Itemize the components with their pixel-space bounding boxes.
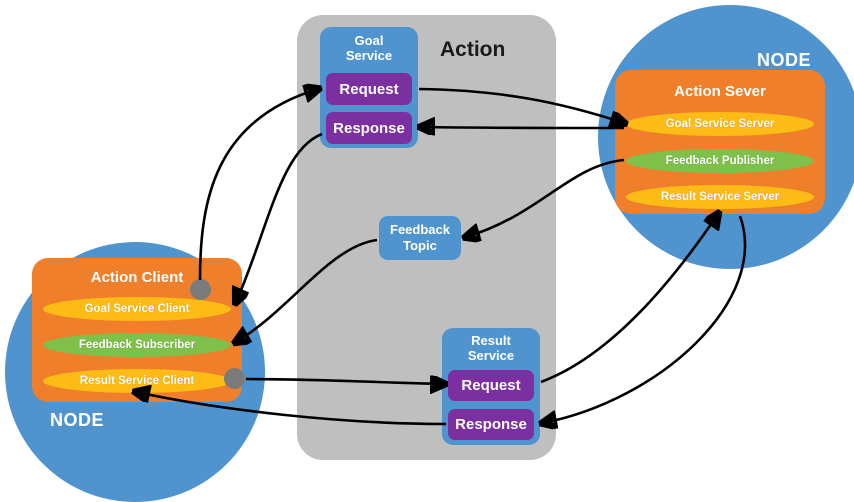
action-panel-title: Action [440, 38, 550, 62]
client-node-label: NODE [50, 410, 104, 431]
diagram-canvas: Action NODE Action Sever Goal Service Se… [0, 0, 854, 480]
result-service-response[interactable]: Response [448, 409, 534, 440]
action-client-title: Action Client [32, 269, 242, 286]
result-service-request[interactable]: Request [448, 370, 534, 401]
connector-dot-goal-client [190, 279, 211, 300]
pill-result-service-client[interactable]: Result Service Client [43, 369, 231, 393]
goal-service-title-line2: Service [346, 48, 392, 63]
pill-goal-service-server[interactable]: Goal Service Server [626, 112, 814, 136]
goal-service-title-line1: Goal [355, 33, 384, 48]
server-node-label: NODE [757, 50, 811, 71]
pill-result-service-server[interactable]: Result Service Server [626, 185, 814, 209]
result-service-title-line2: Service [468, 348, 514, 363]
result-service-title-line1: Result [471, 333, 511, 348]
goal-service-title: Goal Service [320, 33, 418, 63]
action-server-title: Action Sever [615, 83, 825, 100]
pill-goal-service-client[interactable]: Goal Service Client [43, 297, 231, 321]
goal-service-request[interactable]: Request [326, 73, 412, 105]
result-service-title: Result Service [442, 333, 540, 363]
feedback-topic-line1: Feedback [390, 222, 450, 237]
connector-dot-result-client [224, 368, 245, 389]
goal-service-response[interactable]: Response [326, 112, 412, 144]
pill-feedback-subscriber[interactable]: Feedback Subscriber [43, 333, 231, 357]
feedback-topic-box[interactable]: Feedback Topic [379, 216, 461, 260]
pill-feedback-publisher[interactable]: Feedback Publisher [626, 149, 814, 173]
feedback-topic-line2: Topic [403, 238, 437, 253]
